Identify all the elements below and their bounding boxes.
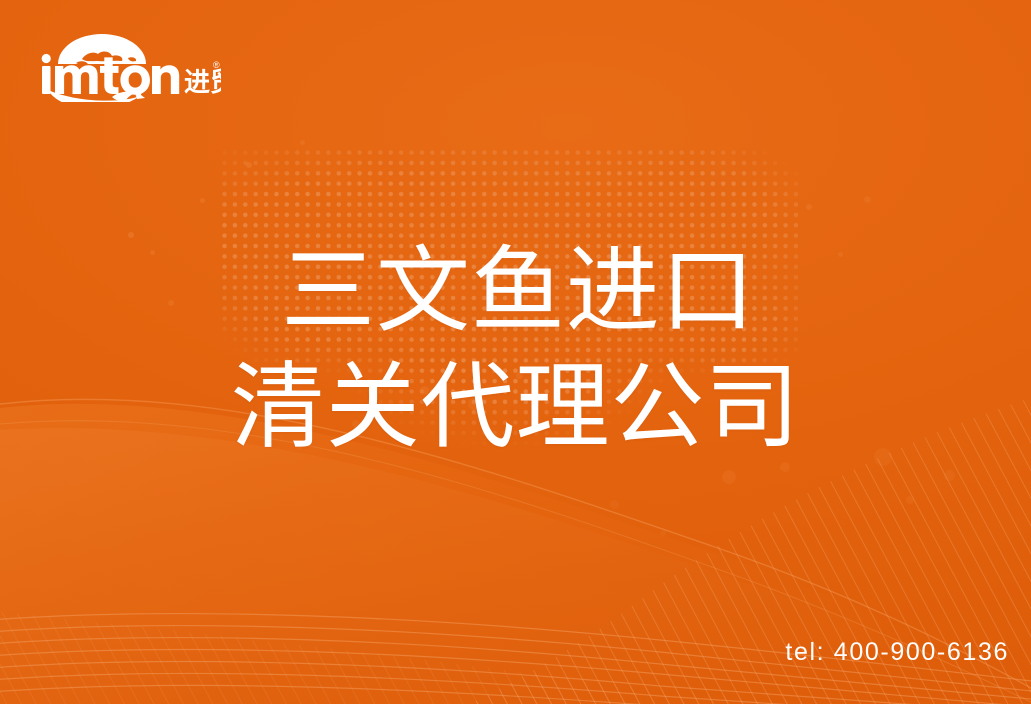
headline-line-2: 清关代理公司: [0, 352, 1031, 462]
poster-banner: 进贸通 ® 三文鱼进口 清关代理公司 tel: 400-900-6136: [0, 0, 1031, 704]
logo-chinese-text: 进贸通: [184, 68, 221, 98]
company-logo[interactable]: 进贸通 ®: [36, 27, 221, 102]
trademark-symbol: ®: [213, 60, 220, 70]
headline-line-1: 三文鱼进口: [0, 236, 1031, 346]
headline: 三文鱼进口 清关代理公司: [0, 236, 1031, 462]
globe-dome-icon: [58, 34, 146, 65]
contact-phone[interactable]: tel: 400-900-6136: [785, 638, 1009, 667]
